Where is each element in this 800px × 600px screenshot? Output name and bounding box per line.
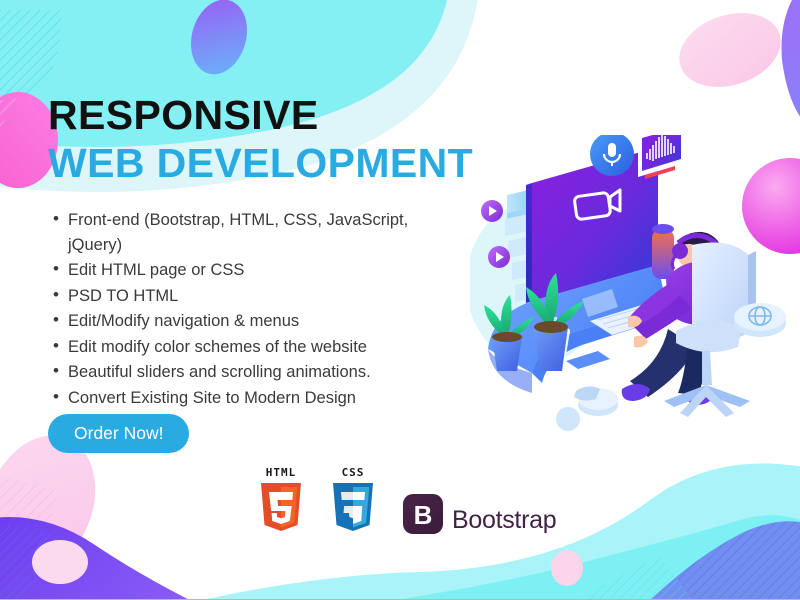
page-title-line2: WEB DEVELOPMENT <box>48 138 473 188</box>
css3-wordmark: CSS <box>342 466 365 479</box>
pink-dot-bottom <box>551 550 583 586</box>
bootstrap-badge-icon: B <box>402 493 444 535</box>
html5-wordmark: HTML <box>266 466 297 479</box>
feature-list-item: Edit modify color schemes of the website <box>68 335 458 360</box>
feature-list-item: Beautiful sliders and scrolling animatio… <box>68 360 458 385</box>
chair-seat <box>676 321 742 352</box>
banner-root: RESPONSIVE WEB DEVELOPMENT Front-end (Bo… <box>0 0 800 600</box>
play-badge-icon-purple-2 <box>488 246 510 268</box>
play-badge-icon-purple-1 <box>481 200 503 222</box>
floor-dumbbell <box>574 386 600 400</box>
cyan-stripe-bottom-right <box>560 556 700 600</box>
speaker <box>652 224 674 279</box>
pink-dot-bottom-left <box>32 540 88 584</box>
pink-circle-left-stripes <box>0 98 16 150</box>
purple-arc-right-2 <box>791 0 800 130</box>
bootstrap-wordmark: Bootstrap <box>452 506 556 535</box>
floor-props <box>556 386 618 431</box>
order-now-button[interactable]: Order Now! <box>48 414 189 453</box>
blue-stripe-bottom-right-texture <box>640 521 800 600</box>
blue-stripe-bottom-right <box>640 521 800 600</box>
chair-column <box>702 351 712 385</box>
feature-list-item: Convert Existing Site to Modern Design <box>68 386 458 411</box>
feature-list-item: Edit HTML page or CSS <box>68 258 458 283</box>
monitor-side <box>526 183 532 303</box>
purple-drop-top <box>183 0 256 81</box>
tech-logo-row: HTML CSS <box>258 466 556 535</box>
pink-blob-top-right <box>670 1 791 100</box>
purple-blob-top-left <box>0 0 122 66</box>
feature-list: Front-end (Bootstrap, HTML, CSS, JavaScr… <box>48 208 458 411</box>
html5-shield-icon <box>258 481 304 535</box>
illustration-developer-workstation <box>470 135 790 435</box>
feature-list-item: Edit/Modify navigation & menus <box>68 309 458 334</box>
css3-logo: CSS <box>330 466 376 535</box>
purple-wave-bottom-left <box>0 517 230 600</box>
globe-puck <box>734 303 786 337</box>
html5-logo: HTML <box>258 466 304 535</box>
pink-blob-bottom-left-stripes <box>0 472 58 570</box>
purple-wave-bottom-left-stripes <box>0 525 62 600</box>
headset-mic <box>672 255 676 269</box>
feature-list-item: PSD TO HTML <box>68 284 458 309</box>
audio-waveform-screen <box>638 135 685 179</box>
bootstrap-logo: B Bootstrap <box>402 493 556 535</box>
feature-list-item: Front-end (Bootstrap, HTML, CSS, JavaScr… <box>68 208 458 257</box>
notebook <box>566 351 610 369</box>
headline-block: RESPONSIVE WEB DEVELOPMENT <box>48 92 473 188</box>
page-title-line1: RESPONSIVE <box>48 92 473 138</box>
purple-arc-right <box>782 0 800 135</box>
floor-ball <box>556 407 580 431</box>
svg-text:B: B <box>414 500 433 530</box>
person-shoe-1 <box>622 384 650 401</box>
css3-shield-icon <box>330 481 376 535</box>
